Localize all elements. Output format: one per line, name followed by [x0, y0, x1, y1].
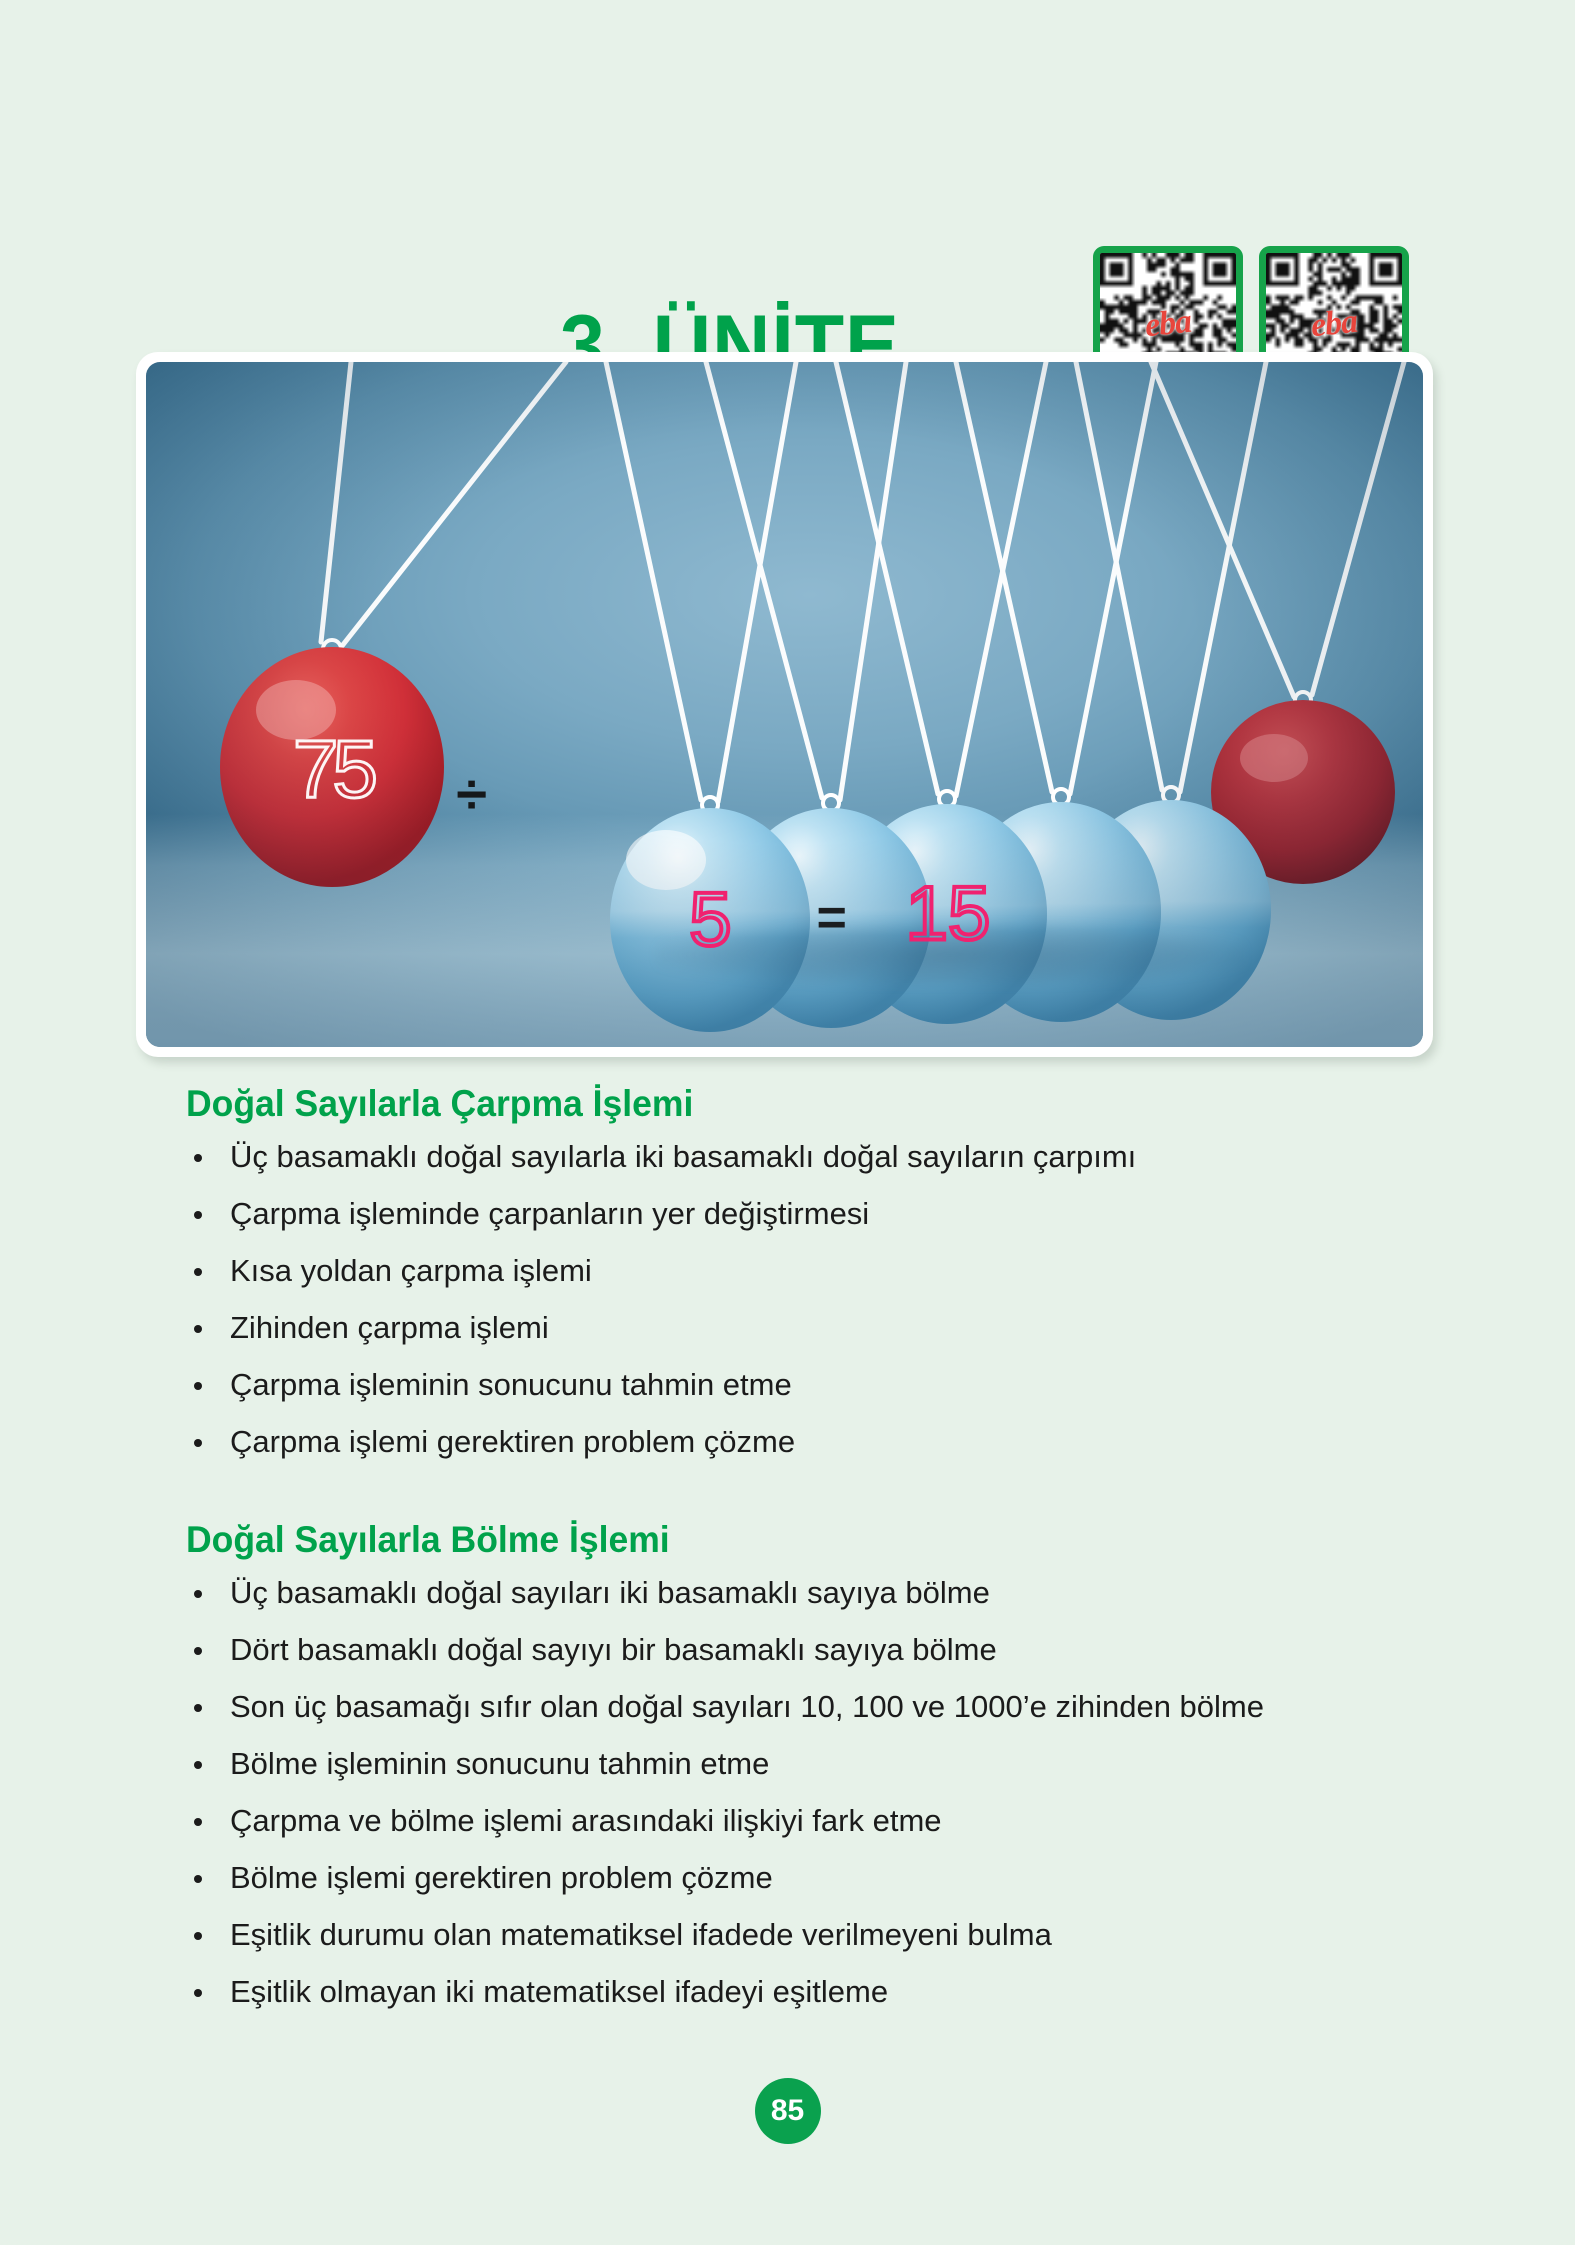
- list-item: Çarpma işlemi gerektiren problem çözme: [186, 1413, 1575, 1470]
- page-number-badge: 85: [755, 2078, 821, 2144]
- list-item: Son üç basamağı sıfır olan doğal sayılar…: [186, 1678, 1575, 1735]
- textbook-page: 3. ÜNİTE eba EBA içeriği eba Ünite özeti: [0, 0, 1575, 2245]
- unit-outline: Doğal Sayılarla Çarpma İşlemi Üç basamak…: [0, 1080, 1575, 2020]
- section-heading: Doğal Sayılarla Çarpma İşlemi: [186, 1080, 1519, 1128]
- section-gap: [0, 1470, 1575, 1516]
- list-item: Kısa yoldan çarpma işlemi: [186, 1242, 1575, 1299]
- list-item: Eşitlik olmayan iki matematiksel ifadeyi…: [186, 1963, 1575, 2020]
- list-item: Çarpma işleminde çarpanların yer değişti…: [186, 1185, 1575, 1242]
- list-item: Bölme işlemi gerektiren problem çözme: [186, 1849, 1575, 1906]
- bullet-list-carpma: Üç basamaklı doğal sayılarla iki basamak…: [0, 1128, 1575, 1470]
- page-header: 3. ÜNİTE eba EBA içeriği eba Ünite özeti: [0, 118, 1575, 338]
- list-item: Üç basamaklı doğal sayıları iki basamakl…: [186, 1564, 1575, 1621]
- list-item: Bölme işleminin sonucunu tahmin etme: [186, 1735, 1575, 1792]
- section-carpma: Doğal Sayılarla Çarpma İşlemi Üç basamak…: [0, 1080, 1575, 1470]
- list-item: Çarpma ve bölme işlemi arasındaki ilişki…: [186, 1792, 1575, 1849]
- section-heading: Doğal Sayılarla Bölme İşlemi: [186, 1516, 1519, 1564]
- scene-vignette: [146, 362, 1423, 1047]
- divide-operator: ÷: [456, 766, 487, 822]
- list-item: Zihinden çarpma işlemi: [186, 1299, 1575, 1356]
- section-bolme: Doğal Sayılarla Bölme İşlemi Üç basamakl…: [0, 1516, 1575, 2020]
- list-item: Çarpma işleminin sonucunu tahmin etme: [186, 1356, 1575, 1413]
- list-item: Üç basamaklı doğal sayılarla iki basamak…: [186, 1128, 1575, 1185]
- equals-operator: =: [817, 892, 847, 944]
- list-item: Eşitlik durumu olan matematiksel ifadede…: [186, 1906, 1575, 1963]
- newtons-cradle-illustration: 75 ÷ 5 = 15: [146, 362, 1423, 1047]
- bullet-list-bolme: Üç basamaklı doğal sayıları iki basamakl…: [0, 1564, 1575, 2020]
- list-item: Dört basamaklı doğal sayıyı bir basamakl…: [186, 1621, 1575, 1678]
- hero-image-frame: 75 ÷ 5 = 15: [136, 352, 1433, 1057]
